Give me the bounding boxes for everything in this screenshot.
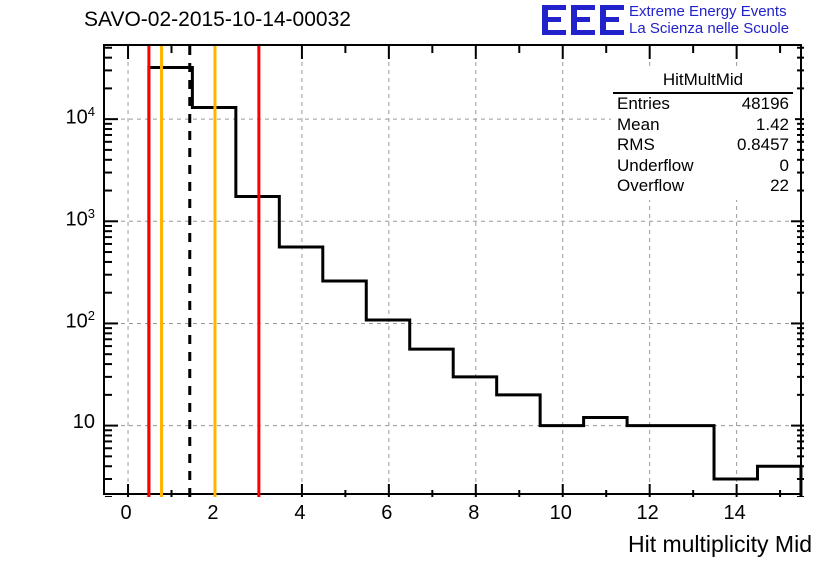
page-title: SAVO-02-2015-10-14-00032 <box>84 8 351 32</box>
y-tick-label: 104 <box>66 104 95 130</box>
eee-logo-line1: Extreme Energy Events <box>629 3 789 20</box>
y-tick-label: 103 <box>66 206 95 232</box>
x-tick-label: 0 <box>101 502 151 525</box>
stats-row-label: RMS <box>617 135 655 156</box>
root-canvas: SAVO-02-2015-10-14-00032 Extreme Energy … <box>0 0 836 572</box>
eee-logo-text: Extreme Energy Events La Scienza nelle S… <box>629 3 789 37</box>
y-tick-label: 102 <box>66 308 95 334</box>
x-tick-label: 12 <box>623 502 673 525</box>
stats-row: RMS0.8457 <box>611 135 795 156</box>
stats-row-label: Entries <box>617 94 670 115</box>
x-tick-label: 2 <box>188 502 238 525</box>
stats-rows: Entries48196Mean1.42RMS0.8457Underflow0O… <box>611 94 795 197</box>
eee-logo: Extreme Energy Events La Scienza nelle S… <box>541 2 833 40</box>
x-tick-label: 6 <box>362 502 412 525</box>
x-tick-label: 8 <box>449 502 499 525</box>
x-tick-label: 10 <box>536 502 586 525</box>
stats-row-label: Mean <box>617 115 660 136</box>
x-tick-label: 14 <box>710 502 760 525</box>
stats-row-value: 0.8457 <box>737 135 789 156</box>
stats-row-value: 22 <box>770 176 789 197</box>
stats-row-label: Overflow <box>617 176 684 197</box>
eee-logo-mark <box>541 3 627 39</box>
stats-title: HitMultMid <box>613 69 793 94</box>
stats-row: Overflow22 <box>611 176 795 197</box>
stats-row-value: 0 <box>780 156 789 177</box>
x-axis-title: Hit multiplicity Mid <box>628 531 812 558</box>
stats-row-label: Underflow <box>617 156 694 177</box>
y-tick-label: 10 <box>73 411 95 434</box>
stats-row-value: 48196 <box>742 94 789 115</box>
stats-row: Underflow0 <box>611 156 795 177</box>
stats-row: Entries48196 <box>611 94 795 115</box>
stats-row-value: 1.42 <box>756 115 789 136</box>
stats-box: HitMultMid Entries48196Mean1.42RMS0.8457… <box>611 69 795 200</box>
stats-row: Mean1.42 <box>611 115 795 136</box>
eee-logo-line2: La Scienza nelle Scuole <box>629 20 789 37</box>
x-tick-label: 4 <box>275 502 325 525</box>
